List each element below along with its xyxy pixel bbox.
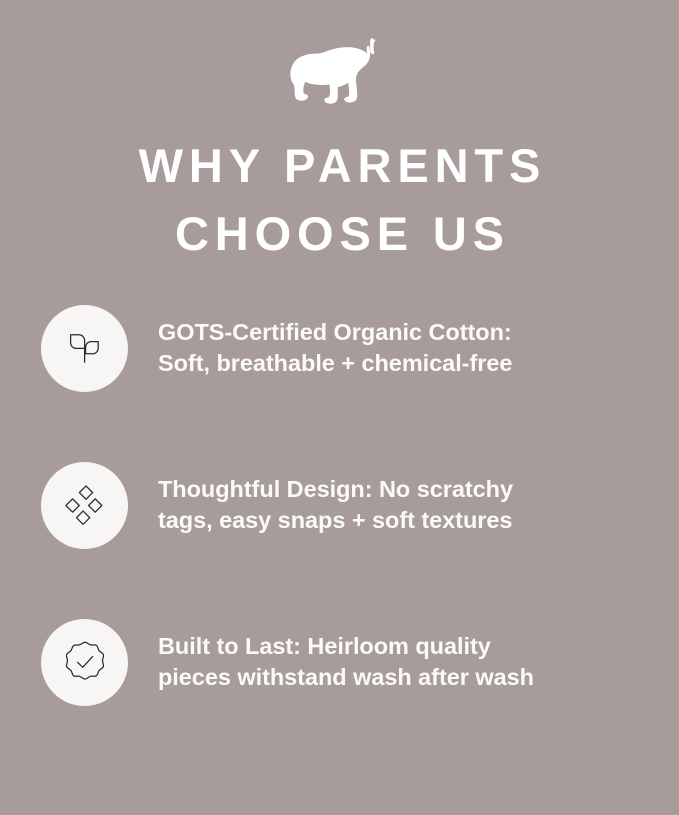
badge-check-icon: [62, 639, 108, 685]
benefit-text-line-1: GOTS-Certified Organic Cotton:: [158, 319, 512, 345]
benefit-text-line-1: Thoughtful Design: No scratchy: [158, 476, 513, 502]
benefit-text-line-2: pieces withstand wash after wash: [158, 664, 534, 690]
benefit-text: Thoughtful Design: No scratchy tags, eas…: [158, 474, 513, 537]
benefit-icon-circle: [41, 305, 128, 392]
benefit-text: GOTS-Certified Organic Cotton: Soft, bre…: [158, 317, 512, 380]
benefit-icon-circle: [41, 619, 128, 706]
benefit-item-organic-cotton: GOTS-Certified Organic Cotton: Soft, bre…: [0, 300, 679, 396]
why-parents-choose-us-panel: WHY PARENTS CHOOSE US GOTS-Certified Org…: [0, 0, 679, 815]
benefit-icon-circle: [41, 462, 128, 549]
sprout-leaves-icon: [64, 327, 106, 369]
four-diamonds-icon: [64, 484, 106, 526]
benefit-text-line-2: tags, easy snaps + soft textures: [158, 507, 512, 533]
benefit-text-line-1: Built to Last: Heirloom quality: [158, 633, 491, 659]
benefit-item-built-to-last: Built to Last: Heirloom quality pieces w…: [0, 614, 679, 710]
page-title: WHY PARENTS CHOOSE US: [0, 132, 679, 267]
benefit-text-line-2: Soft, breathable + chemical-free: [158, 350, 512, 376]
benefit-item-thoughtful-design: Thoughtful Design: No scratchy tags, eas…: [0, 457, 679, 553]
benefits-list: GOTS-Certified Organic Cotton: Soft, bre…: [0, 300, 679, 710]
elephant-icon: [290, 38, 389, 104]
benefit-text: Built to Last: Heirloom quality pieces w…: [158, 631, 534, 694]
page-title-line-2: CHOOSE US: [0, 200, 679, 268]
brand-logo: [0, 38, 679, 110]
page-title-line-1: WHY PARENTS: [0, 132, 679, 200]
